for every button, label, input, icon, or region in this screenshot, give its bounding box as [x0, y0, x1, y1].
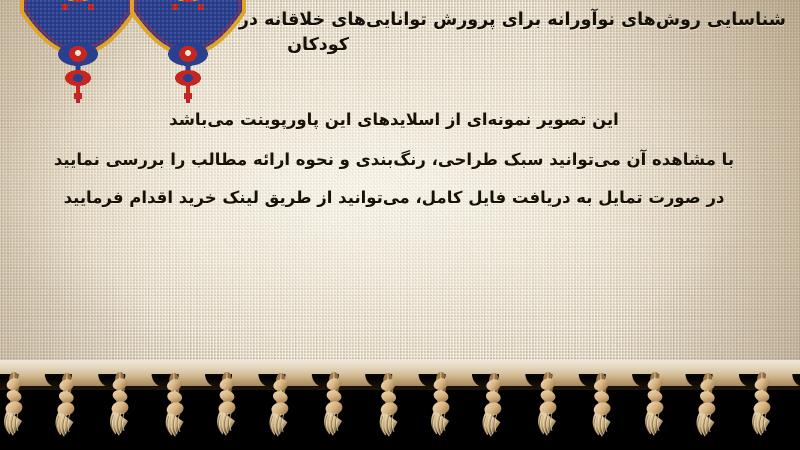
body-line-2: با مشاهده آن می‌توانید سبک طراحی، رنگ‌بن… [0, 152, 788, 169]
slide-title-line-2: کودکان [0, 33, 786, 58]
body-line-1: این تصویر نمونه‌ای از اسلایدهای این پاور… [0, 112, 788, 129]
body-line-3: در صورت تمایل به دریافت فایل کامل، می‌تو… [0, 190, 788, 207]
slide-canvas: شناسایی روش‌های نوآورانه برای پرورش توان… [0, 0, 800, 450]
slide-body: این تصویر نمونه‌ای از اسلایدهای این پاور… [0, 112, 788, 207]
fringe-tassel-group [0, 370, 800, 442]
slide-title-line-1: شناسایی روش‌های نوآورانه برای پرورش توان… [239, 10, 786, 30]
slide-title: شناسایی روش‌های نوآورانه برای پرورش توان… [0, 8, 786, 58]
carpet-fringe [0, 360, 800, 450]
